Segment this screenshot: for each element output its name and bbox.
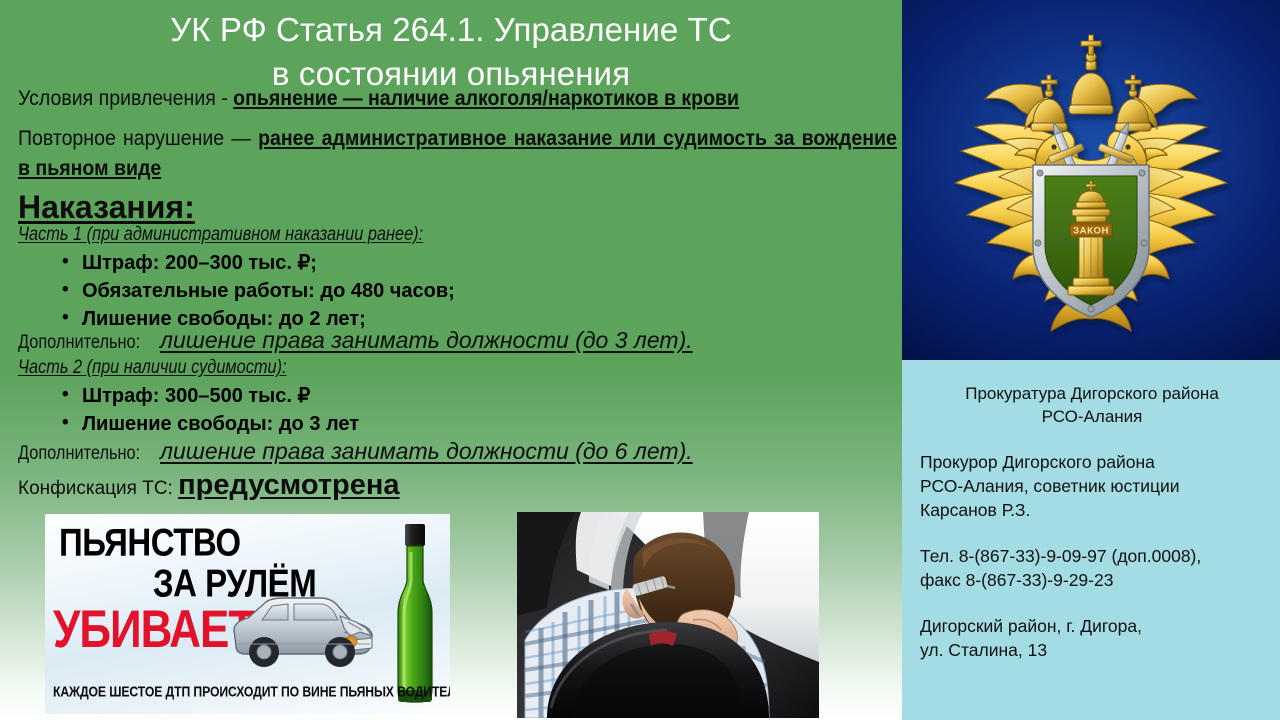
conditions-line-2: Повторное нарушение — ранее администрати…: [18, 124, 897, 184]
organization-line-1: Прокуратура Дигорского района: [920, 382, 1264, 405]
list-item: Штраф: 200–300 тыс. ₽;: [62, 249, 455, 277]
poster-footer-text: КАЖДОЕ ШЕСТОЕ ДТП ПРОИСХОДИТ ПО ВИНЕ ПЬЯ…: [53, 683, 450, 700]
phone-info: Тел. 8-(867-33)-9-09-97 (доп.0008), факс…: [920, 544, 1264, 592]
part2-items: Штраф: 300–500 тыс. ₽ Лишение свободы: д…: [62, 382, 359, 438]
organization-line-2: РСО-Алания: [920, 405, 1264, 428]
list-item: Обязательные работы: до 480 часов;: [62, 277, 455, 305]
alcohol-bottle-icon: [386, 522, 444, 707]
conditions-line-1: Условия привлечения - опьянение — наличи…: [18, 86, 836, 112]
drunk-driving-kills-poster: ПЬЯНСТВО ЗА РУЛЁМ УБИВАЕТ!: [45, 514, 450, 714]
part1-items: Штраф: 200–300 тыс. ₽; Обязательные рабо…: [62, 249, 455, 333]
conditions-line-1-prefix: Условия привлечения -: [18, 87, 233, 110]
contact-panel: Прокуратура Дигорского района РСО-Алания…: [902, 360, 1280, 720]
confiscation-value: предусмотрена: [178, 469, 399, 501]
conditions-line-2-prefix: Повторное нарушение —: [18, 127, 258, 150]
conditions-line-1-emphasis: опьянение — наличие алкоголя/наркотиков …: [233, 87, 739, 110]
part1-additional-label: Дополнительно:: [18, 330, 140, 356]
punishments-heading: Наказания:: [18, 188, 195, 226]
address-info: Дигорский район, г. Дигора, ул. Сталина,…: [920, 614, 1264, 662]
part1-additional: Дополнительно: лишение права занимать до…: [18, 327, 693, 356]
shield-motto-text: ЗАКОН: [1073, 226, 1109, 237]
drunk-driver-photo: [517, 512, 819, 718]
part2-additional-value: лишение права занимать должности (до 6 л…: [160, 438, 693, 464]
prosecutor-emblem-icon: ЗАКОН: [921, 15, 1261, 345]
drunk-driver-illustration: [517, 512, 819, 718]
title-line-1: УК РФ Статья 264.1. Управление ТС: [0, 8, 902, 52]
prosecutor-info: Прокурор Дигорского района РСО-Алания, с…: [920, 450, 1264, 522]
poster-line-3-text: УБИВАЕТ: [53, 600, 254, 659]
organization-name: Прокуратура Дигорского района РСО-Алания: [920, 382, 1264, 428]
crashed-car-icon: [228, 582, 378, 674]
part1-label: Часть 1 (при административном наказании …: [18, 224, 489, 246]
slide-canvas: УК РФ Статья 264.1. Управление ТС в сост…: [0, 0, 1280, 720]
confiscation-label: Конфискация ТС:: [18, 478, 178, 499]
page-title: УК РФ Статья 264.1. Управление ТС в сост…: [0, 8, 902, 96]
part2-additional: Дополнительно: лишение права занимать до…: [18, 438, 693, 467]
emblem-panel: ЗАКОН: [902, 0, 1280, 360]
confiscation-line: Конфискация ТС: предусмотрена: [18, 470, 400, 504]
list-item: Лишение свободы: до 3 лет: [62, 410, 359, 438]
part1-label-text: Часть 1 (при административном наказании …: [18, 224, 423, 246]
part2-additional-label: Дополнительно:: [18, 441, 140, 467]
part2-label: Часть 2 (при наличии судимости):: [18, 357, 330, 379]
part2-label-text: Часть 2 (при наличии судимости):: [18, 357, 287, 379]
poster-line-1: ПЬЯНСТВО: [59, 520, 241, 565]
part1-additional-value: лишение права занимать должности (до 3 л…: [160, 327, 693, 353]
list-item: Штраф: 300–500 тыс. ₽: [62, 382, 359, 410]
